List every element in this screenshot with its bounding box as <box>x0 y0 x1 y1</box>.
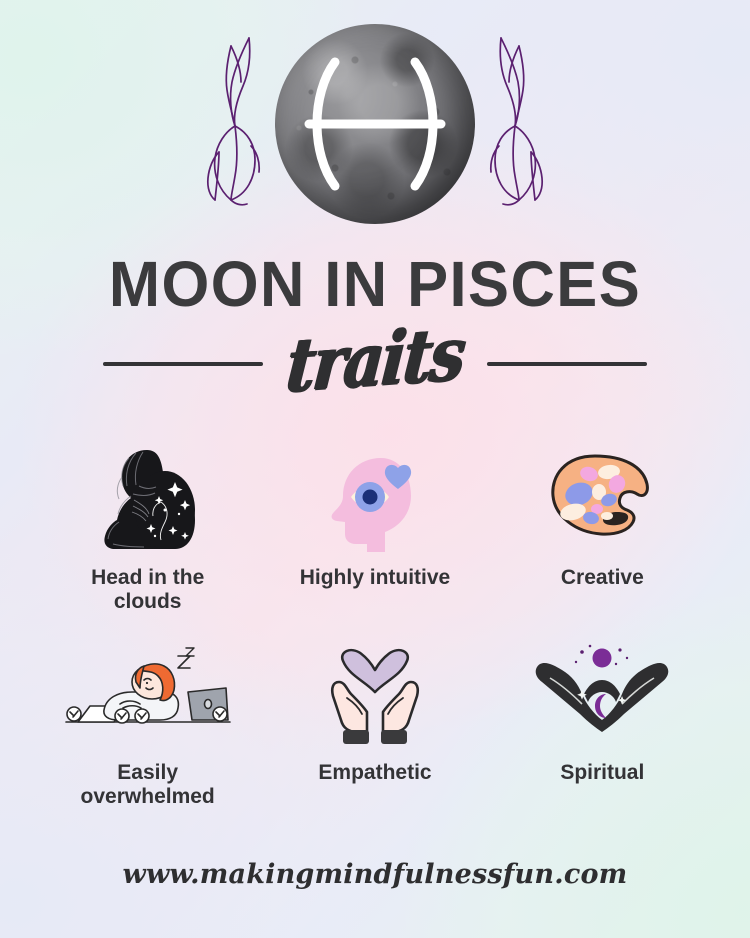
divider-right <box>487 362 647 366</box>
divider-left <box>103 362 263 366</box>
pisces-glyph-icon <box>295 44 455 204</box>
traits-script-word: traits <box>278 317 473 404</box>
trait-icon-wrap <box>319 440 431 560</box>
trait-item: Easily overwhelmed <box>34 635 261 808</box>
tired-person-at-desk-icon <box>60 644 236 746</box>
trait-label: Creative <box>561 566 644 590</box>
paint-palette-icon <box>543 446 661 554</box>
footer: www.makingmindfulnessfun.com <box>0 859 750 890</box>
trait-icon-wrap <box>543 440 661 560</box>
trait-icon-wrap <box>317 635 433 755</box>
trait-label: Easily overwhelmed <box>58 761 238 808</box>
hands-holding-heart-icon <box>317 640 433 750</box>
title-block: MOON IN PISCES traits <box>0 252 750 402</box>
trait-icon-wrap <box>532 635 672 755</box>
hero-section <box>0 0 750 248</box>
trait-label: Empathetic <box>318 761 431 785</box>
koi-fish-right-icon <box>475 28 545 213</box>
trait-item: Highly intuitive <box>261 440 488 613</box>
trait-icon-wrap <box>60 635 236 755</box>
page-title: MOON IN PISCES <box>15 252 735 316</box>
traits-grid: Head in the clouds Highly intuitive <box>0 440 750 808</box>
trait-label: Head in the clouds <box>58 566 238 613</box>
trait-label: Highly intuitive <box>300 566 451 590</box>
trait-item: Spiritual <box>489 635 716 808</box>
traits-heading-row: traits <box>0 326 750 402</box>
koi-fish-left-icon <box>205 28 275 213</box>
trait-item: Creative <box>489 440 716 613</box>
poster-canvas: MOON IN PISCES traits <box>0 0 750 938</box>
hands-heart-moon-icon <box>532 642 672 748</box>
moon-emblem <box>275 24 475 224</box>
trait-item: Head in the clouds <box>34 440 261 613</box>
trait-label: Spiritual <box>560 761 644 785</box>
website-url[interactable]: www.makingmindfulnessfun.com <box>123 859 628 890</box>
head-with-eye-icon <box>319 444 431 556</box>
trait-icon-wrap <box>89 440 207 560</box>
trait-item: Empathetic <box>261 635 488 808</box>
seated-figure-constellation-icon <box>89 444 207 556</box>
